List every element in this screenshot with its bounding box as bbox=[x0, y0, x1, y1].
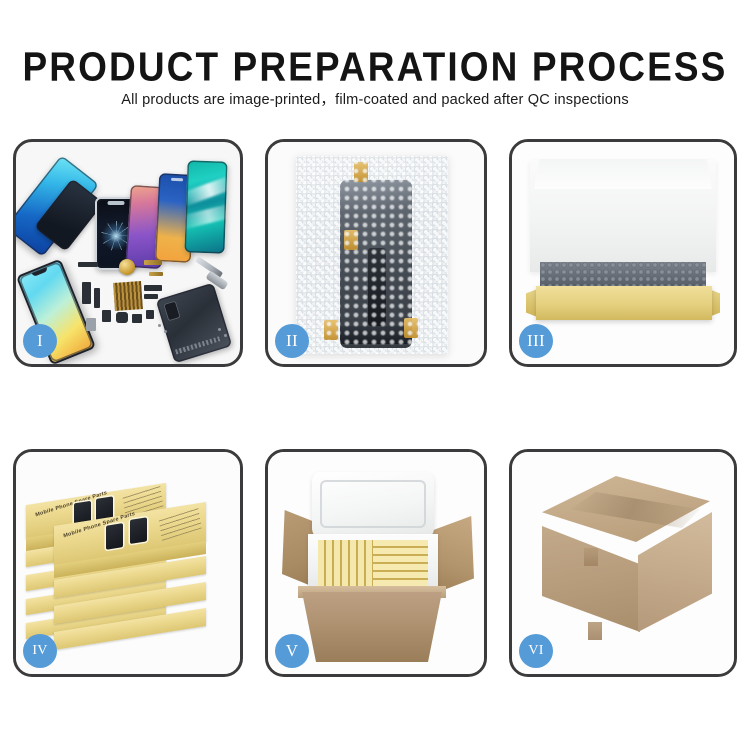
process-step-1[interactable]: I bbox=[13, 139, 243, 367]
flex-cable-icon-2 bbox=[82, 282, 91, 304]
process-step-5[interactable]: V bbox=[265, 449, 487, 677]
step-badge-4: IV bbox=[23, 634, 57, 668]
metal-bracket-icon bbox=[86, 318, 96, 331]
tape-piece-icon-3 bbox=[324, 320, 338, 340]
logic-board-chip-icon bbox=[113, 281, 143, 311]
box-print-lines-icon-2 bbox=[158, 505, 201, 541]
screw-icon-4 bbox=[224, 334, 227, 337]
taptic-module-icon bbox=[116, 312, 128, 323]
bubble-wrap-pouch-icon bbox=[296, 156, 448, 354]
carton-tape-tab-icon-1 bbox=[584, 548, 598, 566]
screw-icon-2 bbox=[164, 330, 167, 333]
wrapped-flex-base-icon bbox=[340, 326, 412, 344]
carton-left-face-icon bbox=[542, 526, 640, 632]
screw-icon-1 bbox=[158, 324, 161, 327]
header: PRODUCT PREPARATION PROCESS All products… bbox=[0, 0, 750, 128]
teal-phone-icon bbox=[184, 160, 227, 253]
step-badge-3: III bbox=[519, 324, 553, 358]
step-badge-1: I bbox=[23, 324, 57, 358]
packed-yellow-boxes-icon bbox=[318, 540, 428, 586]
product-preparation-infographic: PRODUCT PREPARATION PROCESS All products… bbox=[0, 0, 750, 750]
teal-wave-highlight-2-icon bbox=[184, 202, 227, 230]
gold-connector-icon-1 bbox=[144, 260, 162, 265]
foam-box-lid-icon bbox=[312, 472, 434, 538]
flex-cable-icon-4 bbox=[144, 285, 162, 291]
flex-cable-icon-5 bbox=[144, 294, 158, 299]
box-window-icon-3 bbox=[106, 523, 123, 550]
kraft-tray-front-icon bbox=[536, 286, 712, 320]
iphone-notch-icon bbox=[32, 267, 48, 277]
boxes-vertical-rows-icon bbox=[318, 540, 373, 586]
wrapped-flex-tail-icon bbox=[368, 248, 386, 326]
gold-connector-icon-2 bbox=[149, 272, 163, 276]
camera-module-icon bbox=[163, 300, 181, 321]
step-badge-6: VI bbox=[519, 634, 553, 668]
process-step-3[interactable]: III bbox=[509, 139, 737, 367]
phone-pill-camera-icon bbox=[171, 178, 183, 182]
speaker-icon bbox=[102, 310, 111, 322]
box-window-icon-4 bbox=[130, 517, 147, 544]
screw-icon-3 bbox=[218, 328, 221, 331]
tape-piece-icon-1 bbox=[354, 162, 368, 182]
box-lid-top-edge-icon bbox=[534, 159, 712, 189]
small-part-icon bbox=[146, 310, 154, 319]
tape-piece-icon-4 bbox=[404, 318, 418, 338]
page-subtitle: All products are image-printed，film-coat… bbox=[0, 88, 750, 109]
process-step-2[interactable]: II bbox=[265, 139, 487, 367]
page-title: PRODUCT PREPARATION PROCESS bbox=[0, 44, 750, 90]
phone-notch-icon bbox=[107, 201, 124, 205]
flex-cable-icon-3 bbox=[94, 288, 100, 308]
boxes-horizontal-rows-icon bbox=[373, 540, 428, 586]
tape-piece-icon-2 bbox=[344, 230, 358, 250]
carton-tape-tab-icon-2 bbox=[588, 622, 602, 640]
battery-strip-icon bbox=[175, 336, 222, 355]
teal-wave-highlight-icon bbox=[184, 174, 227, 207]
phone-back-housing-icon bbox=[156, 283, 233, 364]
process-step-4[interactable]: Mobile Phone Spare Parts Mobile Phone Sp… bbox=[13, 449, 243, 677]
vibration-motor-icon bbox=[119, 259, 135, 275]
flex-cable-icon-1 bbox=[78, 262, 98, 267]
process-step-grid: I II bbox=[13, 139, 737, 677]
step-badge-2: II bbox=[275, 324, 309, 358]
sim-tray-icon bbox=[132, 314, 142, 323]
step-badge-5: V bbox=[275, 634, 309, 668]
process-step-6[interactable]: VI bbox=[509, 449, 737, 677]
grey-bubble-foam-icon bbox=[540, 262, 706, 288]
carton-body-icon bbox=[302, 592, 442, 662]
